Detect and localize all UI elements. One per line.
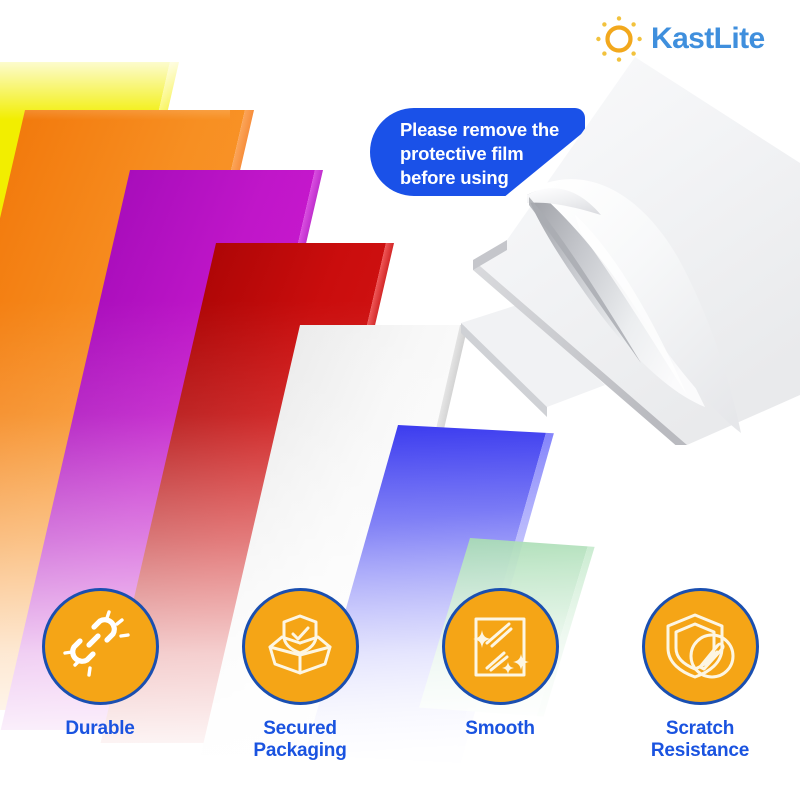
clear-sheet-illustration [455, 55, 800, 445]
feature-icon-circle [642, 588, 759, 705]
feature-label-line: Scratch [651, 718, 749, 740]
feature-icon-circle [42, 588, 159, 705]
brand-logo: KastLite [594, 14, 765, 64]
smooth-panel-icon [463, 610, 537, 684]
sun-icon [594, 14, 644, 64]
feature-label: Scratch Resistance [651, 718, 749, 762]
feature-label-line: Packaging [253, 740, 346, 762]
feature-icon-circle [242, 588, 359, 705]
brand-name: KastLite [651, 22, 765, 56]
feature-badges: Durable Secured Packag [0, 588, 800, 762]
feature-label: Durable [65, 718, 134, 740]
feature-label: Secured Packaging [253, 718, 346, 762]
feature-smooth[interactable]: Smooth [411, 588, 589, 762]
feature-label-line: Secured [253, 718, 346, 740]
feature-label: Smooth [465, 718, 535, 740]
chain-link-icon [63, 610, 137, 684]
feature-icon-circle [442, 588, 559, 705]
feature-label-line: Durable [65, 718, 134, 740]
secure-box-icon [262, 609, 338, 685]
scratch-shield-icon [662, 609, 738, 685]
feature-scratch-resistance[interactable]: Scratch Resistance [611, 588, 789, 762]
feature-secured-packaging[interactable]: Secured Packaging [211, 588, 389, 762]
feature-label-line: Smooth [465, 718, 535, 740]
feature-label-line: Resistance [651, 740, 749, 762]
product-marketing-image: Please remove the protective film before… [0, 0, 800, 800]
feature-durable[interactable]: Durable [11, 588, 189, 762]
clear-acrylic-sheet [455, 55, 800, 445]
